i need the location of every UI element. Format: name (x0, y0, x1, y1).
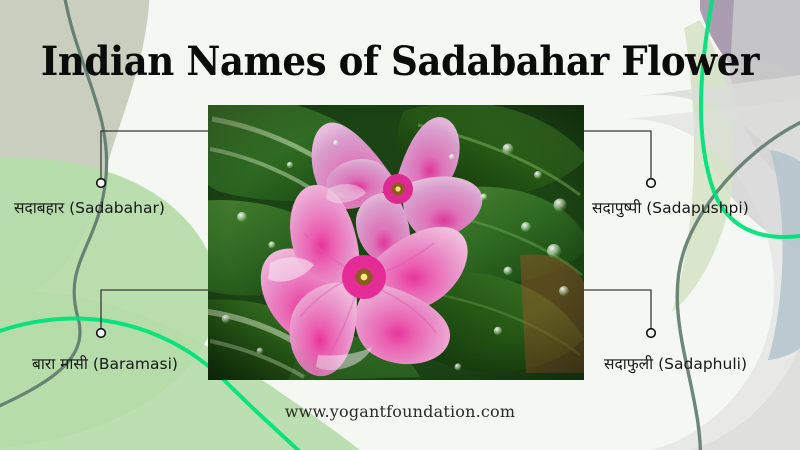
connector-bottom-right (584, 290, 651, 328)
label-baramasi: बारा मासी (Baramasi) (32, 352, 178, 374)
connector-top-left (101, 131, 208, 178)
footer-url: www.yogantfoundation.com (0, 402, 800, 421)
infographic-canvas: Indian Names of Sadabahar Flower (0, 0, 800, 450)
label-sadabahar: सदाबहार (Sadabahar) (14, 196, 165, 218)
connector-top-right (584, 131, 651, 178)
connector-dot-top-right (647, 179, 656, 188)
connector-dot-bottom-right (647, 329, 656, 338)
label-sadapushpi: सदापुष्पी (Sadapushpi) (592, 196, 749, 218)
connector-dot-top-left (97, 179, 106, 188)
connector-dot-bottom-left (97, 329, 106, 338)
page-title: Indian Names of Sadabahar Flower (28, 38, 772, 85)
label-sadaphuli: सदाफुली (Sadaphuli) (604, 352, 747, 374)
connector-bottom-left (101, 290, 208, 328)
